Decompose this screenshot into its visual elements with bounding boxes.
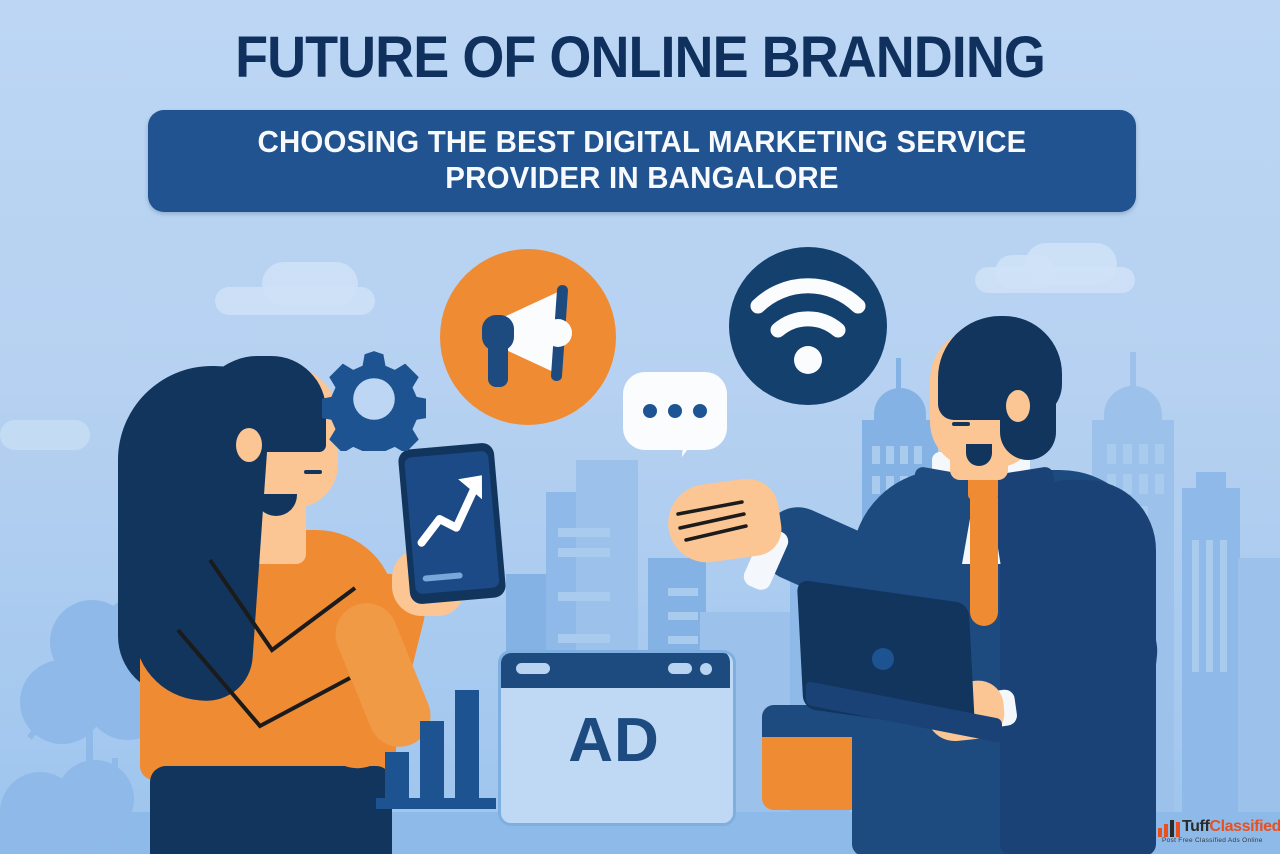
building-window <box>872 446 880 464</box>
ad-window-titlebar <box>498 650 730 688</box>
ad-window-control-dot <box>700 663 712 675</box>
megaphone-icon <box>466 275 590 399</box>
logo-bar <box>1170 820 1174 837</box>
bar-chart-bar <box>420 721 444 799</box>
building-window <box>558 634 610 643</box>
building-window <box>1206 540 1213 672</box>
building-window <box>668 636 698 644</box>
chat-dot <box>668 404 682 418</box>
man-hand-fingers <box>668 486 784 566</box>
woman-ear <box>236 428 262 462</box>
building-window <box>872 476 880 494</box>
cloud-left-bump <box>262 262 358 306</box>
man-ear <box>1006 390 1030 422</box>
building-7-spire <box>1130 352 1136 392</box>
building-9-cap <box>874 388 926 424</box>
building-window <box>1139 444 1148 464</box>
bar-chart-baseline <box>376 798 496 809</box>
building-window <box>1192 540 1199 672</box>
bar-chart-bar <box>455 690 479 799</box>
logo-brand: TuffClassified <box>1182 818 1280 836</box>
building-10 <box>1238 558 1280 814</box>
building-window <box>558 528 610 537</box>
bush-leaf <box>56 760 134 838</box>
ad-window-icon[interactable]: AD <box>498 650 736 826</box>
man-tie <box>970 494 998 626</box>
logo-bar <box>1164 824 1168 837</box>
logo-tagline: Post Free Classified Ads Online <box>1162 837 1263 844</box>
building-window <box>558 592 610 601</box>
ad-window-control-pill <box>668 663 692 674</box>
page-title: FUTURE OF ONLINE BRANDING <box>45 24 1235 91</box>
laptop-logo <box>872 648 894 670</box>
building-7-cap <box>1104 386 1162 426</box>
building-window <box>668 588 698 596</box>
woman-sweater-lines <box>140 530 410 790</box>
man-eye <box>961 385 970 400</box>
chat-bubble-icon[interactable] <box>623 372 727 450</box>
building-window <box>558 548 610 557</box>
bush-trunk <box>112 758 118 854</box>
ad-window-url-pill <box>516 663 550 674</box>
building-window <box>1123 444 1132 464</box>
wifi-icon <box>750 272 866 382</box>
building-window <box>1107 444 1116 464</box>
chat-dot <box>643 404 657 418</box>
subtitle-banner: CHOOSING THE BEST DIGITAL MARKETING SERV… <box>148 110 1136 212</box>
logo-bar <box>1158 828 1162 837</box>
building-window <box>1155 474 1164 494</box>
tablet-icon[interactable] <box>397 442 506 605</box>
logo-brand-first: Tuff <box>1182 818 1209 835</box>
bar-chart-bar <box>385 752 409 799</box>
subtitle-line-1: CHOOSING THE BEST DIGITAL MARKETING SERV… <box>173 124 1112 160</box>
building-9-spire <box>896 358 901 392</box>
building-window <box>1220 540 1227 672</box>
logo-brand-second: Classified <box>1209 818 1280 835</box>
building-window <box>1139 474 1148 494</box>
chat-bubble-tail <box>682 433 698 458</box>
ad-label: AD <box>501 705 727 776</box>
building-window <box>1155 444 1164 464</box>
logo-bar <box>1176 822 1180 837</box>
building-8-top <box>1196 472 1226 496</box>
cloud-far-left <box>0 420 90 450</box>
chat-dot <box>693 404 707 418</box>
woman-mouth <box>304 470 322 474</box>
growth-arrow-icon <box>409 465 496 558</box>
subtitle-text: CHOOSING THE BEST DIGITAL MARKETING SERV… <box>173 124 1112 196</box>
building-window <box>900 446 908 464</box>
subtitle-line-2: PROVIDER IN BANGALORE <box>173 160 1112 196</box>
watermark-logo[interactable]: TuffClassified Post Free Classified Ads … <box>1156 818 1274 848</box>
poster-canvas: AD <box>0 0 1280 854</box>
woman-eye <box>303 426 312 442</box>
building-window <box>668 612 698 620</box>
building-window <box>886 446 894 464</box>
man-mouth <box>952 422 970 426</box>
cloud-right-bump2 <box>995 255 1055 289</box>
gear-icon[interactable] <box>322 347 426 451</box>
building-window <box>914 446 922 464</box>
